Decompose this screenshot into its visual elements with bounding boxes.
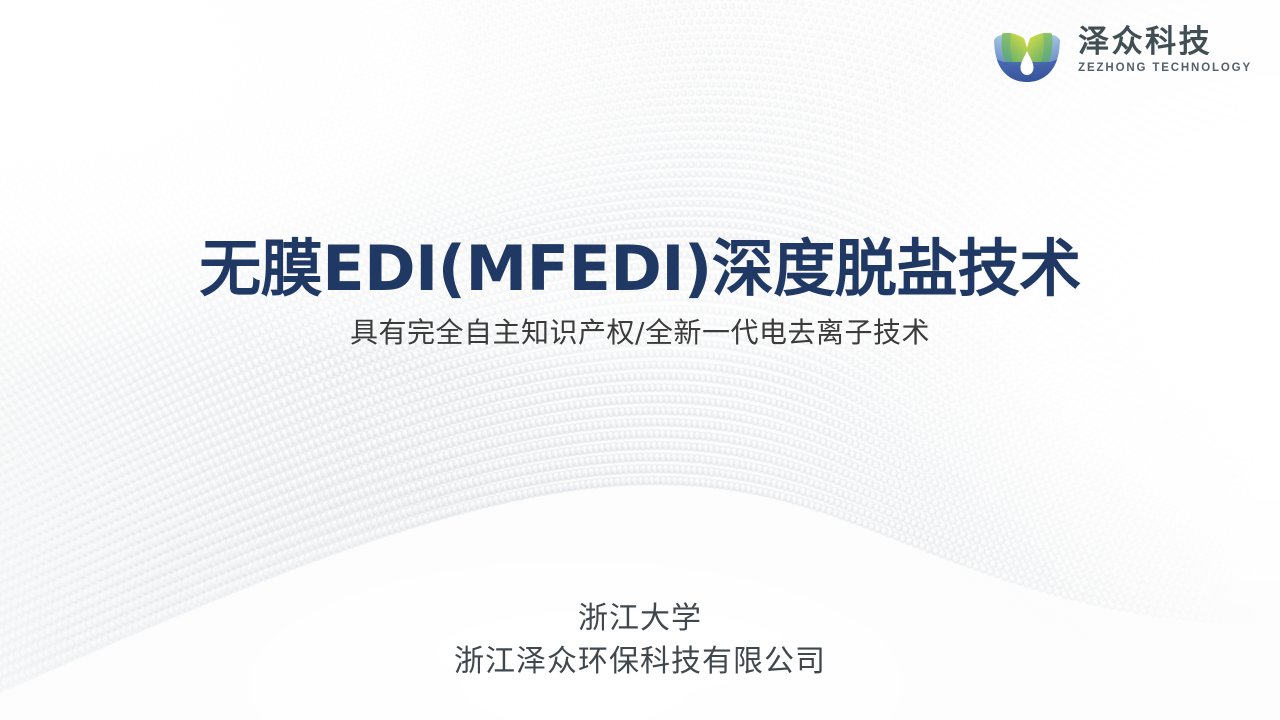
company-logo: 泽众科技 ZEZHONG TECHNOLOGY — [990, 18, 1252, 84]
page-subtitle: 具有完全自主知识产权/全新一代电去离子技术 — [0, 316, 1280, 350]
logo-wordmark: 泽众科技 ZEZHONG TECHNOLOGY — [1078, 27, 1252, 75]
title-slide: 泽众科技 ZEZHONG TECHNOLOGY 无膜EDI(MFEDI)深度脱盐… — [0, 0, 1280, 720]
logo-company-name-cn: 泽众科技 — [1078, 27, 1252, 58]
logo-company-name-en: ZEZHONG TECHNOLOGY — [1078, 63, 1252, 75]
page-title: 无膜EDI(MFEDI)深度脱盐技术 — [0, 236, 1280, 302]
headline-block: 无膜EDI(MFEDI)深度脱盐技术 具有完全自主知识产权/全新一代电去离子技术 — [0, 236, 1280, 349]
affiliation-line-university: 浙江大学 — [0, 598, 1280, 641]
affiliation-block: 浙江大学 浙江泽众环保科技有限公司 — [0, 598, 1280, 683]
zezhong-lotus-droplet-icon — [990, 18, 1064, 84]
affiliation-line-company: 浙江泽众环保科技有限公司 — [0, 641, 1280, 684]
